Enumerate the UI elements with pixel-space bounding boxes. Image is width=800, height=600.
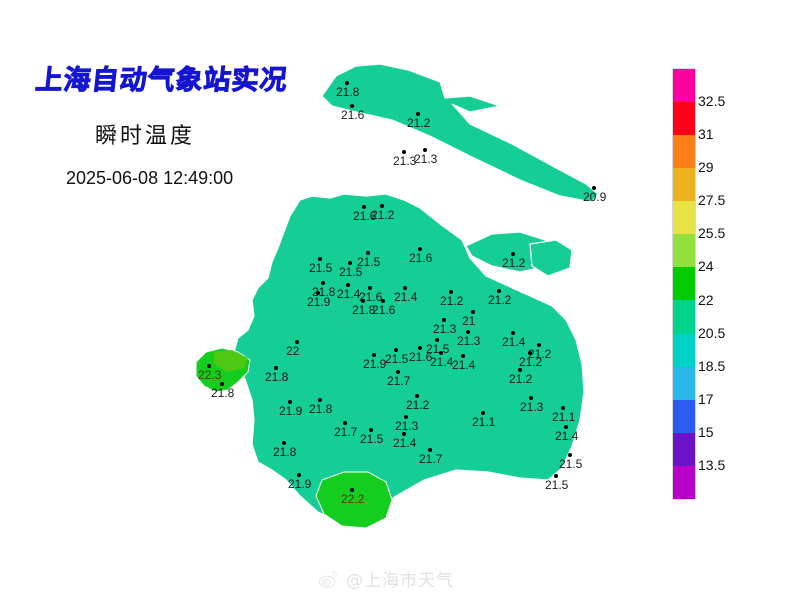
- map-subtitle: 瞬时温度: [95, 118, 195, 150]
- temperature-colorbar: [672, 68, 696, 500]
- page-title: 上海自动气象站实况: [34, 58, 290, 97]
- colorbar-segment: [673, 69, 695, 102]
- weather-map-page: 21.821.621.221.321.320.921.621.221.521.6…: [0, 0, 800, 600]
- colorbar-segment: [673, 102, 695, 135]
- hengsha-island-shape: [530, 240, 572, 276]
- colorbar-tick-label: 17: [698, 391, 714, 407]
- colorbar-segment: [673, 168, 695, 201]
- colorbar-tick-label: 29: [698, 159, 714, 175]
- colorbar-tick-label: 25.5: [698, 225, 725, 241]
- colorbar-segment: [673, 201, 695, 234]
- colorbar-segment: [673, 300, 695, 333]
- colorbar-tick-label: 18.5: [698, 358, 725, 374]
- colorbar-tick-label: 20.5: [698, 325, 725, 341]
- map-landmasses: [196, 64, 598, 528]
- colorbar-segment: [673, 400, 695, 433]
- colorbar-tick-label: 22: [698, 292, 714, 308]
- chongming-island-shape: [322, 64, 598, 202]
- colorbar-tick-label: 32.5: [698, 93, 725, 109]
- watermark: @上海市天气: [318, 566, 454, 591]
- colorbar-segment: [673, 267, 695, 300]
- watermark-text: @上海市天气: [346, 566, 454, 591]
- colorbar-tick-label: 15: [698, 424, 714, 440]
- colorbar-segment: [673, 234, 695, 267]
- colorbar-tick-label: 31: [698, 126, 714, 142]
- colorbar-tick-labels: 32.5312927.525.5242220.518.5171513.5: [698, 68, 758, 498]
- observation-timestamp: 2025-06-08 12:49:00: [66, 168, 233, 189]
- colorbar-segment: [673, 334, 695, 367]
- colorbar-tick-label: 27.5: [698, 192, 725, 208]
- colorbar-segment: [673, 367, 695, 400]
- colorbar-tick-label: 24: [698, 258, 714, 274]
- colorbar-tick-label: 13.5: [698, 457, 725, 473]
- colorbar-segment: [673, 135, 695, 168]
- colorbar-segment: [673, 433, 695, 466]
- south-green-patch: [316, 472, 392, 528]
- weibo-logo-icon: [318, 568, 340, 590]
- colorbar-segment: [673, 466, 695, 499]
